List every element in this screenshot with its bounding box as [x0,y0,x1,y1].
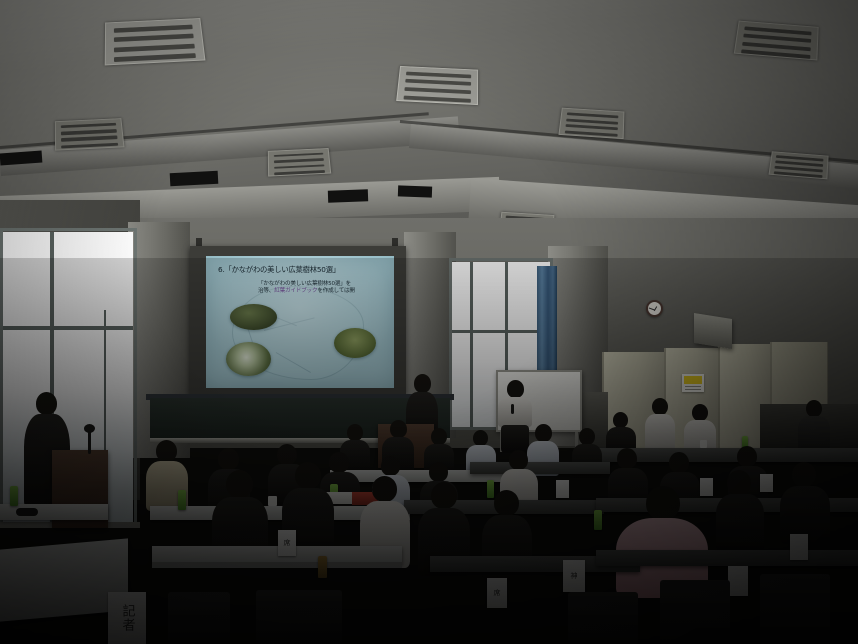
poster-color-band [684,376,702,384]
head [535,424,552,442]
poster-text-line [685,386,701,387]
torso [645,414,675,450]
slide-body-line-2a: 治等、 [258,288,274,294]
audience-table [470,462,610,474]
microphone [16,508,38,516]
head [669,452,689,473]
wall-speaker [694,313,732,349]
ceiling-vent [398,185,432,197]
drink-bottle [178,490,186,510]
torso [798,416,830,452]
ceiling-light-fixture [396,66,478,105]
torso [716,494,764,552]
staff-member [798,400,830,452]
chair [256,590,342,644]
partition-seam [718,344,720,448]
head [390,420,407,438]
head [372,476,397,502]
clock-minute-hand [649,307,655,310]
trousers [501,425,529,453]
wall-poster [682,374,704,392]
torso-shirt [498,397,532,427]
projection-screen: 6.「かながわの美しい広葉樹林50選」 「かながわの美しい広葉樹林50選」を 治… [206,256,394,388]
name-placard: 席 [278,530,296,556]
staff-member [645,398,675,450]
podium-microphone [88,430,91,454]
wall-clock [646,300,663,317]
name-placard: 席 [487,578,507,608]
head [429,462,448,482]
cup [700,440,707,448]
drink-bottle [10,486,18,506]
head [218,448,239,470]
slide-title: 6.「かながわの美しい広葉樹林50選」 [218,265,384,274]
ceiling-light-fixture [769,151,829,179]
ceiling-light-fixture [105,18,206,65]
head [579,428,595,445]
ceiling-light-fixture [55,118,125,150]
ceiling-light-fixture [558,108,624,139]
flowers-photo [226,342,271,376]
head [613,412,628,428]
head [473,430,488,446]
ceiling-light-fixture [734,21,819,61]
cup [268,496,277,506]
name-placard [728,566,748,596]
head [431,428,447,445]
ceiling-light-fixture [268,148,331,177]
head [617,448,637,469]
chair [568,592,638,644]
head [507,380,524,398]
head [737,446,757,467]
front-table [596,550,858,566]
forest-photo [230,304,277,330]
head [347,424,363,441]
head [806,400,822,417]
head [792,462,816,487]
head [226,470,253,498]
attendee [716,470,764,550]
head [36,392,57,415]
attendee [780,462,830,542]
projection-screen-housing: 6.「かながわの美しい広葉樹林50選」 「かながわの美しい広葉樹林50選」を 治… [190,246,406,394]
chair [660,580,730,644]
ceiling-vent [328,189,368,202]
head [509,450,528,470]
head [652,398,668,415]
trees-photo [334,328,376,358]
microphone-head [84,424,95,433]
drink-bottle [594,510,602,530]
head [646,486,680,520]
name-placard: 神 [563,560,585,592]
head [494,490,519,516]
drink-bottle [318,556,327,578]
table-edge [152,562,402,568]
poster-text-line [685,389,701,390]
slide-body-line-2b: 紅葉ガイドブック [274,288,317,294]
press-placard: 記者 [108,592,146,644]
head [381,456,400,476]
chair [760,574,830,644]
slide-body-line-2c: を作成しては開 [317,288,354,294]
slide-body: 「かながわの美しい広葉樹林50選」を 治等、紅葉ガイドブックを作成しては開 [258,281,388,296]
head [156,440,177,462]
name-placard [556,480,569,498]
presentation-room-photo: 6.「かながわの美しい広葉樹林50選」 「かながわの美しい広葉樹林50選」を 治… [0,0,858,644]
head [414,374,431,393]
handheld-microphone [511,404,514,414]
name-placard [790,534,808,560]
slide-body-line-2: 治等、紅葉ガイドブックを作成しては開 [258,288,388,295]
ceiling-vent [170,171,219,186]
head [295,462,321,489]
head [692,404,708,421]
head [727,470,751,495]
head [431,482,457,509]
chair [168,592,230,644]
